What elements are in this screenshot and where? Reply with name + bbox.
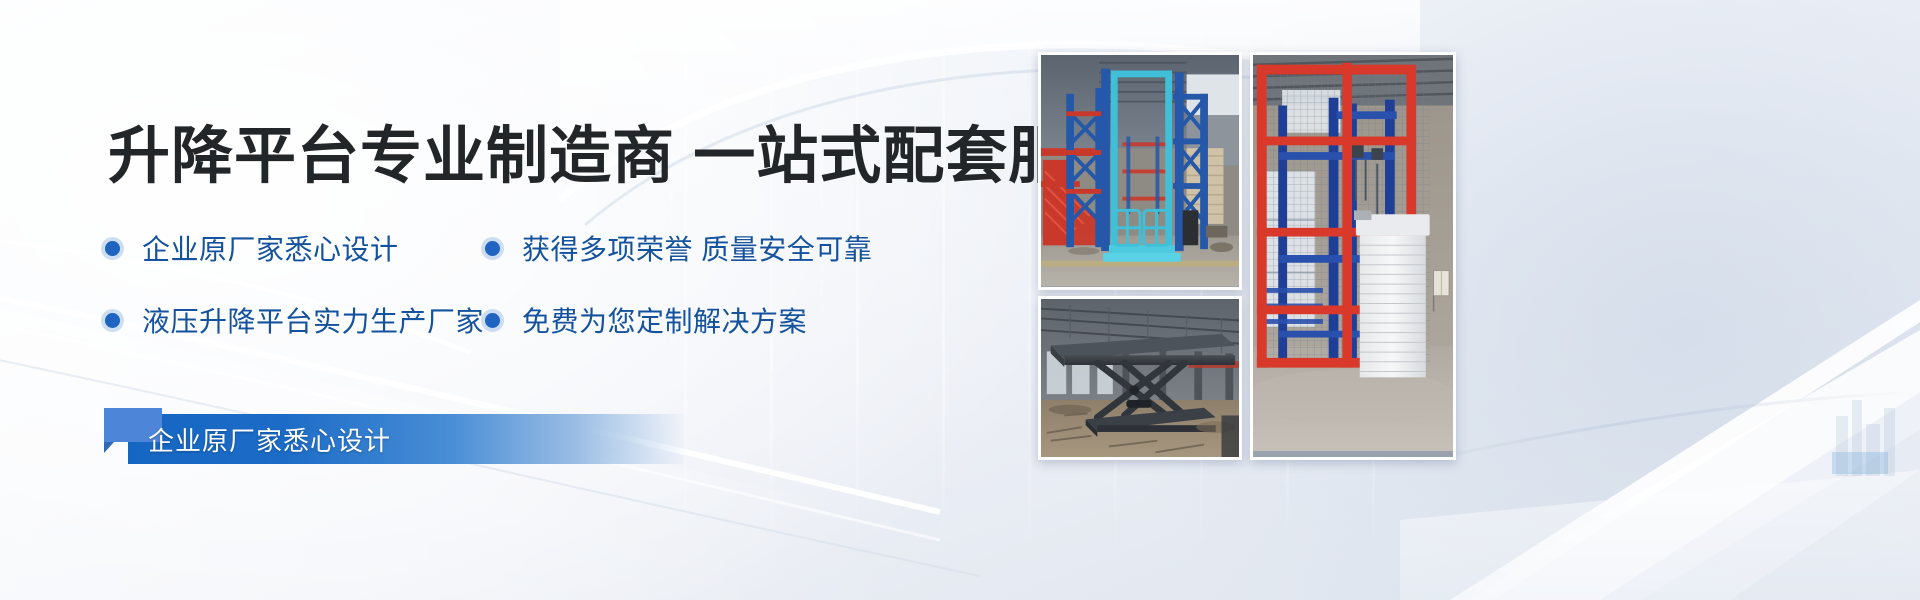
bullet-label: 企业原厂家悉心设计 [142, 228, 399, 268]
bullet-row-1: 企业原厂家悉心设计 获得多项荣誉 质量安全可靠 [105, 212, 1005, 284]
bullet-item-manufacturer: 液压升降平台实力生产厂家 [105, 300, 485, 340]
bullet-label: 免费为您定制解决方案 [522, 300, 807, 340]
bullet-item-honors: 获得多项荣誉 质量安全可靠 [485, 228, 965, 268]
feature-bullet-list: 企业原厂家悉心设计 获得多项荣誉 质量安全可靠 液压升降平台实力生产厂家 免费为… [105, 212, 1005, 356]
banner-text-block: 升降平台专业制造商 一站式配套服务 企业原厂家悉心设计 获得多项荣誉 质量安全可… [0, 0, 1030, 600]
bullet-item-design: 企业原厂家悉心设计 [105, 228, 485, 268]
bullet-row-2: 液压升降平台实力生产厂家 免费为您定制解决方案 [105, 284, 1005, 356]
warehouse-guide-rail-lift-photo [1038, 52, 1242, 290]
bullet-dot-icon [105, 241, 120, 256]
bullet-dot-icon [485, 241, 500, 256]
ribbon-label: 企业原厂家悉心设计 [148, 414, 391, 464]
bullet-label: 液压升降平台实力生产厂家 [142, 300, 484, 340]
page-title: 升降平台专业制造商 一站式配套服务 [108, 105, 1134, 195]
promo-banner: 升降平台专业制造商 一站式配套服务 企业原厂家悉心设计 获得多项荣誉 质量安全可… [0, 0, 1920, 600]
scissor-lift-platform-photo [1038, 296, 1242, 460]
bullet-item-free-plan: 免费为您定制解决方案 [485, 300, 965, 340]
bullet-label: 获得多项荣誉 质量安全可靠 [522, 228, 872, 268]
highlight-ribbon: 企业原厂家悉心设计 [128, 414, 688, 464]
bullet-dot-icon [485, 313, 500, 328]
bullet-dot-icon [105, 313, 120, 328]
caged-guide-rail-lift-photo [1250, 52, 1456, 460]
